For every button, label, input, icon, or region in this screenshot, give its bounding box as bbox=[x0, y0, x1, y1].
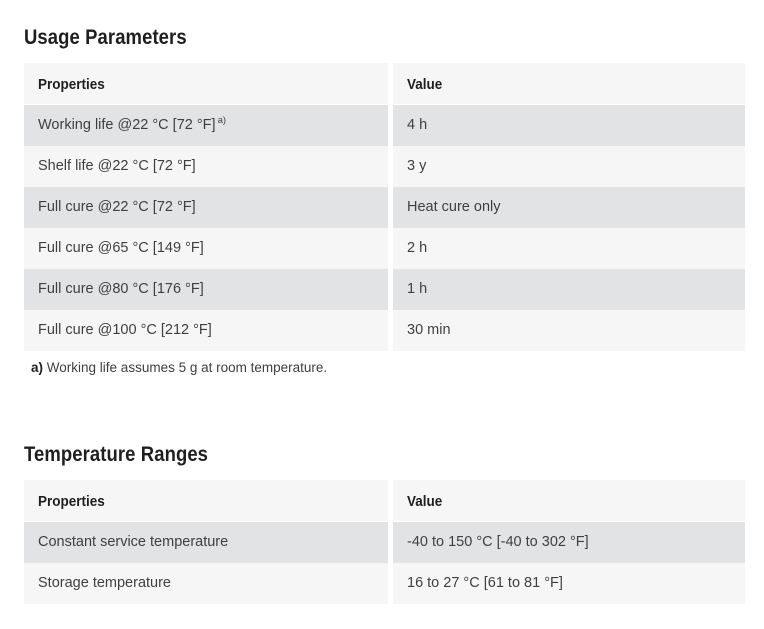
cell-value: 1 h bbox=[393, 269, 745, 310]
footnote-marker: a) bbox=[218, 115, 226, 126]
cell-property: Full cure @80 °C [176 °F] bbox=[24, 269, 388, 310]
table-header-row: Properties Value bbox=[24, 63, 745, 105]
cell-value: 16 to 27 °C [61 to 81 °F] bbox=[393, 563, 745, 604]
cell-property: Full cure @22 °C [72 °F] bbox=[24, 187, 388, 228]
cell-property: Full cure @100 °C [212 °F] bbox=[24, 310, 388, 351]
cell-value: 3 y bbox=[393, 146, 745, 187]
cell-value: 30 min bbox=[393, 310, 745, 351]
table-row: Shelf life @22 °C [72 °F] 3 y bbox=[24, 146, 745, 187]
footnote-text: Working life assumes 5 g at room tempera… bbox=[47, 360, 327, 375]
cell-property-text: Working life @22 °C [72 °F] bbox=[38, 116, 216, 135]
cell-value: Heat cure only bbox=[393, 187, 745, 228]
cell-value: 2 h bbox=[393, 228, 745, 269]
section-title-usage-parameters: Usage Parameters bbox=[24, 26, 187, 50]
table-row: Full cure @80 °C [176 °F] 1 h bbox=[24, 269, 745, 310]
column-header-properties-label: Properties bbox=[38, 75, 105, 94]
column-header-value-label: Value bbox=[407, 75, 442, 94]
temperature-ranges-table-wrapper: Properties Value Constant service temper… bbox=[24, 480, 745, 604]
table-row: Full cure @65 °C [149 °F] 2 h bbox=[24, 228, 745, 269]
table-row: Storage temperature 16 to 27 °C [61 to 8… bbox=[24, 563, 745, 604]
usage-parameters-table-wrapper: Properties Value Working life @22 °C [72… bbox=[24, 63, 745, 351]
section-title-temperature-ranges: Temperature Ranges bbox=[24, 443, 208, 467]
table-row: Constant service temperature -40 to 150 … bbox=[24, 522, 745, 563]
table-header-row: Properties Value bbox=[24, 480, 745, 522]
cell-property: Constant service temperature bbox=[24, 522, 388, 563]
column-header-value: Value bbox=[393, 480, 745, 522]
temperature-ranges-table: Properties Value Constant service temper… bbox=[24, 480, 745, 604]
table-row: Working life @22 °C [72 °F]a) 4 h bbox=[24, 105, 745, 146]
table-footnote: a) Working life assumes 5 g at room temp… bbox=[31, 359, 327, 377]
document-page: Usage Parameters Properties Value bbox=[0, 0, 764, 629]
cell-property: Full cure @65 °C [149 °F] bbox=[24, 228, 388, 269]
column-header-value: Value bbox=[393, 63, 745, 105]
cell-property: Working life @22 °C [72 °F]a) bbox=[24, 105, 388, 146]
usage-parameters-table: Properties Value Working life @22 °C [72… bbox=[24, 63, 745, 351]
cell-property: Shelf life @22 °C [72 °F] bbox=[24, 146, 388, 187]
cell-property: Storage temperature bbox=[24, 563, 388, 604]
table-row: Full cure @100 °C [212 °F] 30 min bbox=[24, 310, 745, 351]
column-header-properties: Properties bbox=[24, 480, 388, 522]
column-header-value-label: Value bbox=[407, 492, 442, 511]
column-header-properties-label: Properties bbox=[38, 492, 105, 511]
column-header-properties: Properties bbox=[24, 63, 388, 105]
footnote-marker-label: a) bbox=[31, 360, 43, 375]
cell-value: 4 h bbox=[393, 105, 745, 146]
cell-value: -40 to 150 °C [-40 to 302 °F] bbox=[393, 522, 745, 563]
table-row: Full cure @22 °C [72 °F] Heat cure only bbox=[24, 187, 745, 228]
